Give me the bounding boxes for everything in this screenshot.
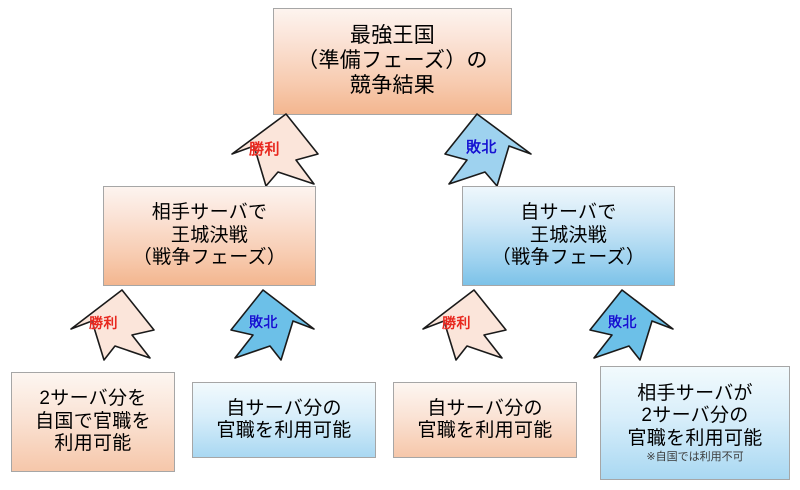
node-result-1-line-3: 利用可能 [54, 433, 131, 455]
node-result-4-line-1: 相手サーバが [637, 383, 753, 405]
node-mid-right-line-1: 自サーバで [520, 202, 616, 224]
node-result-3-line-2: 官職を利用可能 [417, 420, 552, 442]
node-result-4-line-3: 官職を利用可能 [627, 428, 762, 450]
node-mid-left: 相手サーバで 王城決戦 （戦争フェーズ） [103, 186, 316, 286]
node-result-2-line-2: 官職を利用可能 [216, 420, 351, 442]
node-mid-right-line-2: 王城決戦 [530, 225, 607, 247]
arrow-midright-lose-label: 敗北 [608, 312, 637, 332]
node-root-line-3: 競争結果 [350, 74, 435, 99]
node-result-1: 2サーバ分を 自国で官職を 利用可能 [11, 372, 175, 472]
node-result-4-line-2: 2サーバ分の [641, 405, 748, 427]
arrow-midright-win-label: 勝利 [442, 313, 471, 333]
node-root-line-1: 最強王国 [350, 24, 435, 49]
node-result-1-line-2: 自国で官職を [35, 411, 151, 433]
flowchart-canvas: 最強王国 （準備フェーズ）の 競争結果 勝利 敗北 相手サーバで 王城決戦 （戦… [0, 0, 800, 490]
node-result-1-line-1: 2サーバ分を [39, 388, 146, 410]
node-mid-left-line-2: 王城決戦 [171, 225, 248, 247]
arrow-midleft-lose-label: 敗北 [249, 312, 278, 332]
node-mid-right-line-3: （戦争フェーズ） [492, 247, 645, 269]
node-result-2-line-1: 自サーバ分の [226, 398, 342, 420]
arrow-root-lose-label: 敗北 [466, 136, 497, 157]
node-result-4-note: ※自国では利用不可 [646, 451, 743, 463]
node-result-3-line-1: 自サーバ分の [427, 398, 543, 420]
arrow-midleft-win-label: 勝利 [89, 313, 118, 333]
arrow-root-win-label: 勝利 [249, 138, 280, 159]
node-result-2: 自サーバ分の 官職を利用可能 [192, 382, 376, 458]
node-root: 最強王国 （準備フェーズ）の 競争結果 [273, 8, 512, 115]
node-mid-right: 自サーバで 王城決戦 （戦争フェーズ） [462, 186, 675, 286]
node-result-4: 相手サーバが 2サーバ分の 官職を利用可能 ※自国では利用不可 [600, 366, 790, 480]
node-result-3: 自サーバ分の 官職を利用可能 [393, 382, 577, 458]
node-mid-left-line-1: 相手サーバで [152, 202, 268, 224]
node-root-line-2: （準備フェーズ）の [297, 49, 488, 74]
node-mid-left-line-3: （戦争フェーズ） [133, 247, 286, 269]
